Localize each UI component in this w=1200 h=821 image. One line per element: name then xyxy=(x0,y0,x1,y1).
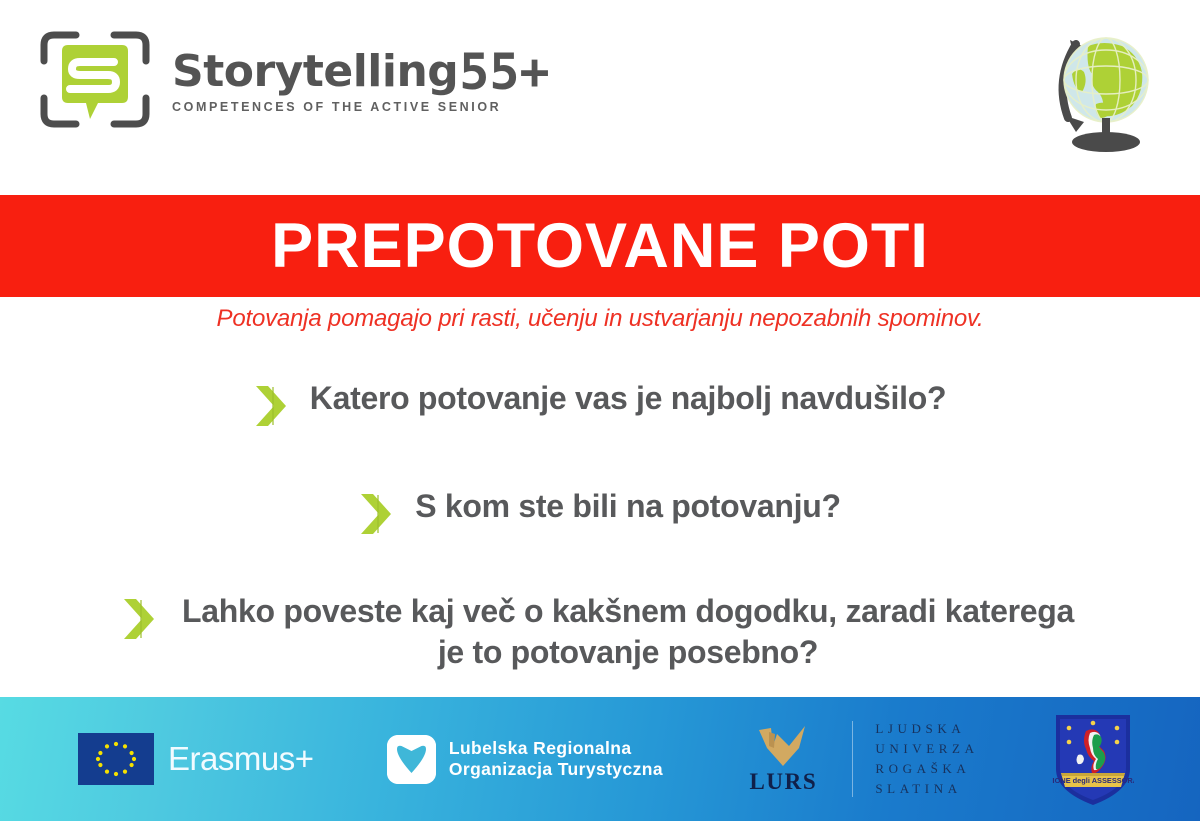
lurs-v-mark-icon-svg xyxy=(755,724,811,768)
lubelska-line-1: Lubelska Regionalna xyxy=(449,738,663,759)
erasmus-logo: Erasmus+ xyxy=(78,733,313,785)
storytelling-speech-bubble-logo xyxy=(36,27,154,132)
wordmark-age-badge: 55+ xyxy=(459,47,549,97)
subtitle-text: Potovanja pomagajo pri rasti, učenju in … xyxy=(0,305,1200,333)
question-text: S kom ste bili na potovanju? xyxy=(415,486,840,527)
page-title: PREPOTOVANE POTI xyxy=(271,215,929,278)
lurs-v-mark-icon xyxy=(755,724,811,768)
wordmark-row: Storytelling 55+ xyxy=(172,50,550,97)
brand-wordmark: Storytelling 55+ COMPETENCES OF THE ACTI… xyxy=(172,46,550,114)
globe-icon-svg xyxy=(1044,18,1162,158)
wordmark-tagline: COMPETENCES OF THE ACTIVE SENIOR xyxy=(172,100,550,114)
lubelska-heart-icon xyxy=(387,735,436,784)
question-item: S kom ste bili na potovanju? xyxy=(0,486,1200,536)
lubelska-label: Lubelska Regionalna Organizacja Turystyc… xyxy=(449,738,663,781)
lubelska-heart-icon-svg xyxy=(387,735,436,784)
lurs-logo: LURS xyxy=(736,724,830,795)
eu-flag-icon xyxy=(78,733,154,785)
title-banner: PREPOTOVANE POTI xyxy=(0,195,1200,297)
erasmus-label: Erasmus+ xyxy=(168,740,313,778)
chevron-right-icon xyxy=(359,492,397,536)
question-item: Katero potovanje vas je najbolj navdušil… xyxy=(0,378,1200,428)
questions-list: Katero potovanje vas je najbolj navdušil… xyxy=(0,360,1200,670)
shield-banner-text: UNIONE degli ASSESSORATI xyxy=(1052,776,1134,785)
question-text: Katero potovanje vas je najbolj navdušil… xyxy=(310,378,946,419)
lurs-university-name: LJUDSKA UNIVERZA ROGAŠKA SLATINA xyxy=(875,719,978,800)
lurs-acronym: LURS xyxy=(749,769,817,795)
slide-header: Storytelling 55+ COMPETENCES OF THE ACTI… xyxy=(0,0,1200,195)
storytelling-logo-svg xyxy=(36,27,154,132)
footer-divider xyxy=(852,721,853,797)
storytelling-brand-lockup: Storytelling 55+ COMPETENCES OF THE ACTI… xyxy=(36,27,550,132)
chevron-right-icon-svg xyxy=(359,492,397,536)
chevron-right-icon-svg xyxy=(254,384,292,428)
lubelska-logo: Lubelska Regionalna Organizacja Turystyc… xyxy=(387,735,663,784)
question-item: Lahko poveste kaj več o kakšnem dogodku,… xyxy=(0,591,1200,673)
lurs-logo-block: LURS LJUDSKA UNIVERZA ROGAŠKA SLATINA xyxy=(736,719,978,800)
lurs-uni-line-4: SLATINA xyxy=(875,779,978,799)
slide: Storytelling 55+ COMPETENCES OF THE ACTI… xyxy=(0,0,1200,821)
eu-flag-icon-svg xyxy=(78,733,154,785)
globe-icon xyxy=(1044,18,1162,158)
italian-shield-crest-icon-svg: UNIONE degli ASSESSORATI xyxy=(1052,711,1134,807)
italian-shield-crest-icon: UNIONE degli ASSESSORATI xyxy=(1052,711,1134,807)
question-text: Lahko poveste kaj več o kakšnem dogodku,… xyxy=(178,591,1078,673)
lubelska-line-2: Organizacja Turystyczna xyxy=(449,759,663,780)
sponsor-footer: Erasmus+ Lubelska Regionalna Organizacja… xyxy=(0,697,1200,821)
wordmark-text: Storytelling xyxy=(172,50,458,94)
chevron-right-icon xyxy=(254,384,292,428)
lurs-uni-line-2: UNIVERZA xyxy=(875,739,978,759)
lurs-uni-line-1: LJUDSKA xyxy=(875,719,978,739)
chevron-right-icon xyxy=(122,597,160,641)
chevron-right-icon-svg xyxy=(122,597,160,641)
sponsor-logo-row: Erasmus+ Lubelska Regionalna Organizacja… xyxy=(0,711,1200,807)
lurs-uni-line-3: ROGAŠKA xyxy=(875,759,978,779)
